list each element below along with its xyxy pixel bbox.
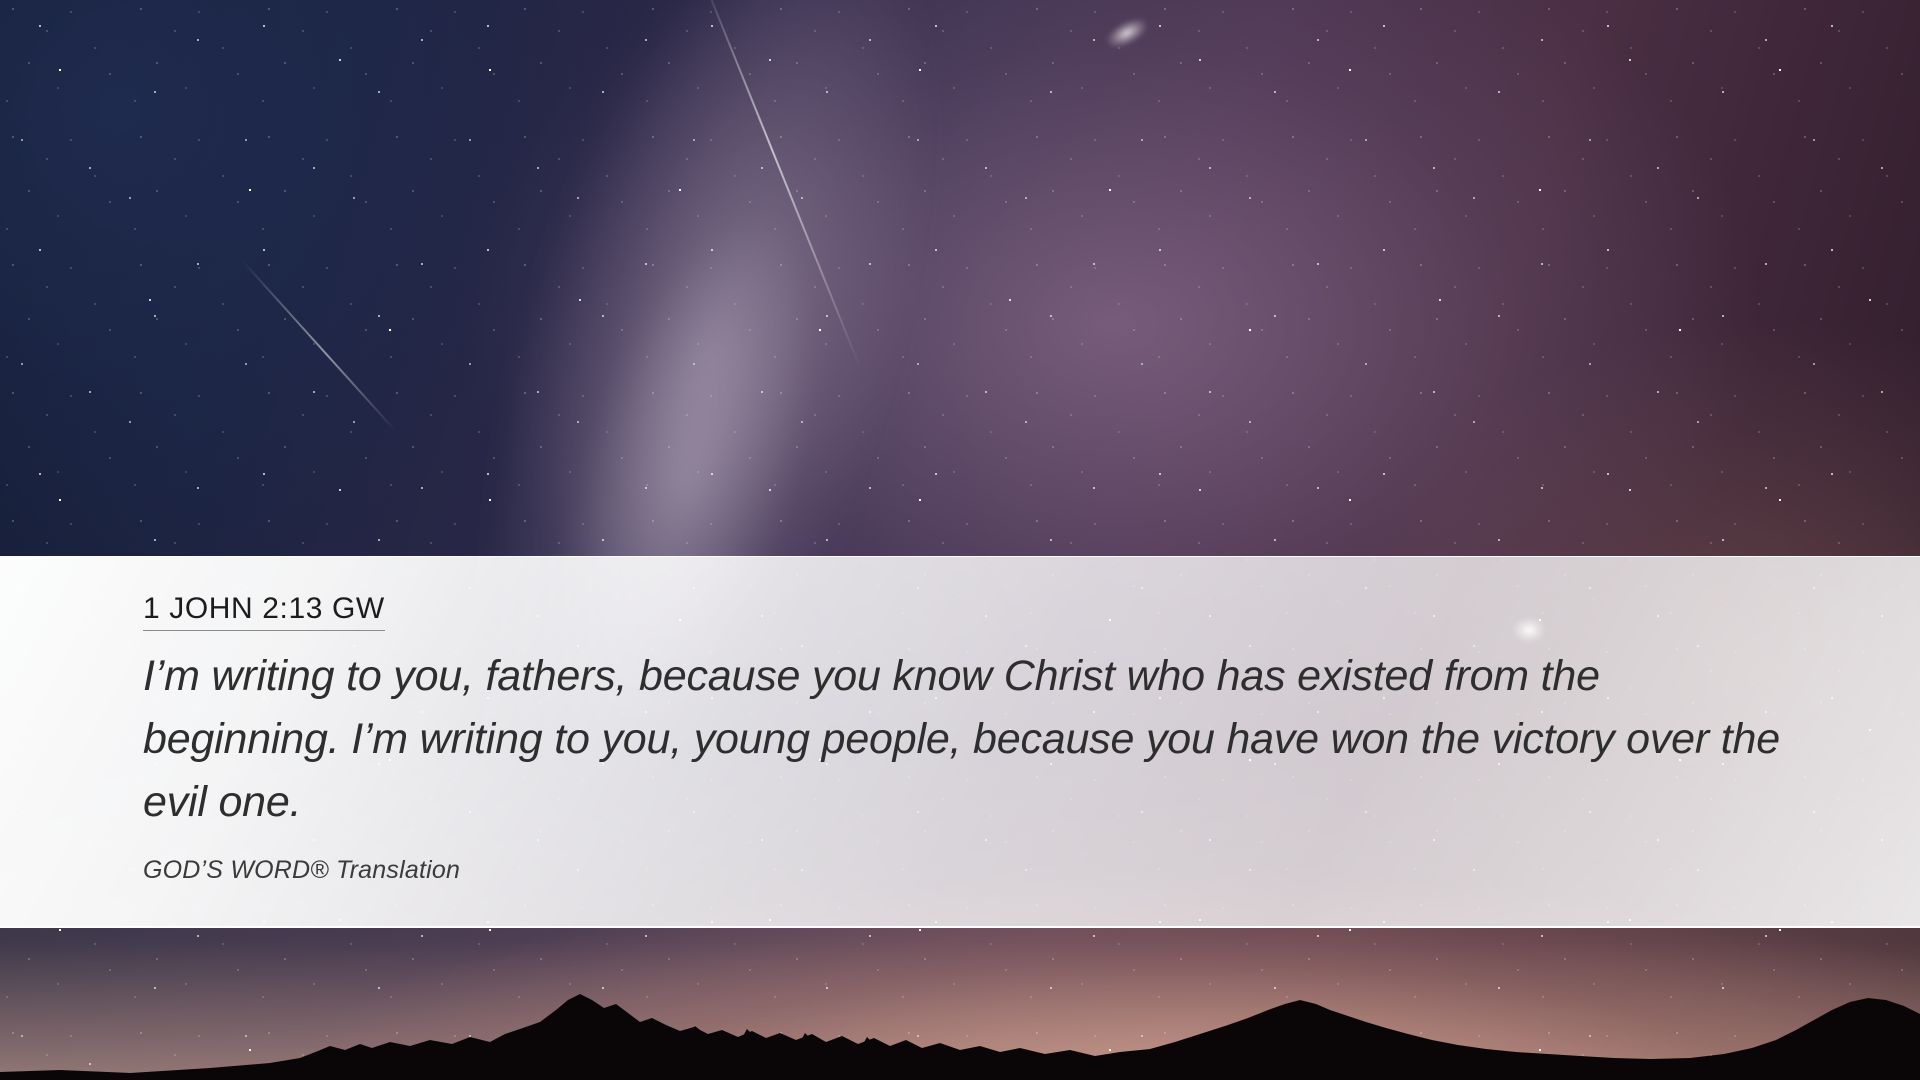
verse-overlay-panel: 1 JOHN 2:13 GW I’m writing to you, fathe… (0, 556, 1920, 928)
landscape-silhouette (0, 930, 1920, 1080)
verse-reference: 1 JOHN 2:13 GW (143, 593, 385, 631)
verse-text: I’m writing to you, fathers, because you… (143, 645, 1793, 834)
verse-wallpaper-scene: 1 JOHN 2:13 GW I’m writing to you, fathe… (0, 0, 1920, 1080)
verse-attribution: GOD’S WORD® Translation (143, 856, 1860, 885)
